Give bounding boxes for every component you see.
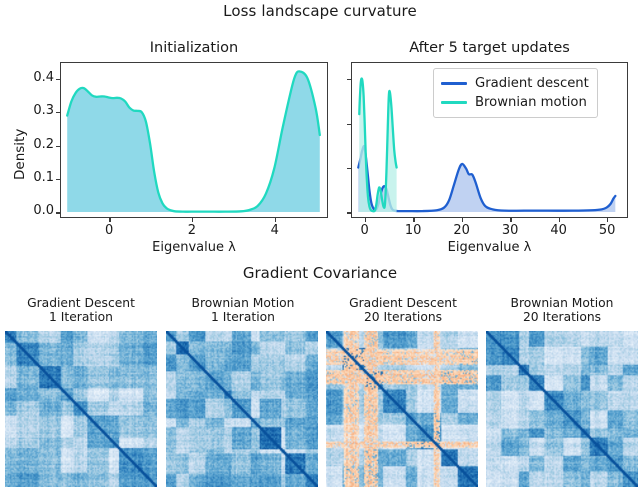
heatmap-title-1-line2: 1 Iteration xyxy=(162,310,324,324)
x-tick-mark-1-0 xyxy=(365,218,366,222)
x-tick-mark-1-2 xyxy=(462,218,463,222)
y-tick-mark-0-0 xyxy=(56,212,60,213)
legend-label-brownian-motion: Brownian motion xyxy=(475,95,587,110)
heatmap-title-3: Brownian Motion 20 Iterations xyxy=(481,296,640,324)
x-tick-mark-1-4 xyxy=(559,218,560,222)
x-tick-mark-1-3 xyxy=(510,218,511,222)
legend-item-brownian-motion[interactable]: Brownian motion xyxy=(441,93,589,112)
x-tick-1-1: 10 xyxy=(391,223,435,238)
y-tick-mark-0-4 xyxy=(56,79,60,80)
chart-title-initialization: Initialization xyxy=(60,40,328,56)
y-tick-0-2: 0.2 xyxy=(8,137,54,152)
area-fill-brownian-motion xyxy=(67,71,320,212)
legend-swatch-brownian-motion xyxy=(441,101,467,104)
heatmap-title-2-line1: Gradient Descent xyxy=(322,296,484,310)
x-tick-0-1: 2 xyxy=(170,223,214,238)
x-tick-mark-0-1 xyxy=(192,218,193,222)
y-tick-0-3: 0.3 xyxy=(8,103,54,118)
section-title-gradient-covariance: Gradient Covariance xyxy=(0,264,640,282)
y-tick-0-0: 0.0 xyxy=(8,203,54,218)
heatmap-title-0: Gradient Descent 1 Iteration xyxy=(0,296,162,324)
heatmap-title-0-line2: 1 Iteration xyxy=(0,310,162,324)
y-tick-0-4: 0.4 xyxy=(8,70,54,85)
legend-swatch-gradient-descent xyxy=(441,82,467,85)
heatmap-gradient-descent-1-iteration xyxy=(5,331,157,487)
chart-panel-initialization xyxy=(60,62,328,218)
y-tick-0-1: 0.1 xyxy=(8,170,54,185)
heatmap-title-3-line2: 20 Iterations xyxy=(481,310,640,324)
x-axis-label-left: Eigenvalue λ xyxy=(60,240,328,255)
x-tick-mark-1-5 xyxy=(607,218,608,222)
y-tick-mark-1-3 xyxy=(347,79,351,80)
heatmap-title-2-line2: 20 Iterations xyxy=(322,310,484,324)
heatmap-title-1-line1: Brownian Motion xyxy=(162,296,324,310)
y-tick-mark-0-2 xyxy=(56,146,60,147)
figure-root: Loss landscape curvature Initialization … xyxy=(0,0,640,488)
y-tick-mark-1-1 xyxy=(347,168,351,169)
heatmap-brownian-motion-1-iteration xyxy=(166,331,318,487)
y-tick-mark-1-2 xyxy=(347,124,351,125)
x-tick-0-0: 0 xyxy=(87,223,131,238)
x-tick-1-4: 40 xyxy=(537,223,581,238)
x-tick-1-5: 50 xyxy=(585,223,629,238)
chart-title-after-updates: After 5 target updates xyxy=(351,40,628,56)
x-tick-mark-0-2 xyxy=(275,218,276,222)
heatmap-title-1: Brownian Motion 1 Iteration xyxy=(162,296,324,324)
area-fill-gradient-descent xyxy=(358,146,615,212)
x-tick-1-0: 0 xyxy=(343,223,387,238)
heatmap-brownian-motion-20-iterations xyxy=(486,331,638,487)
heatmap-title-0-line1: Gradient Descent xyxy=(0,296,162,310)
heatmap-gradient-descent-20-iterations xyxy=(326,331,478,487)
x-tick-mark-1-1 xyxy=(413,218,414,222)
y-tick-mark-0-1 xyxy=(56,179,60,180)
figure-suptitle: Loss landscape curvature xyxy=(0,2,640,20)
legend-label-gradient-descent: Gradient descent xyxy=(475,76,589,91)
x-tick-mark-0-0 xyxy=(109,218,110,222)
x-tick-1-3: 30 xyxy=(488,223,532,238)
x-tick-1-2: 20 xyxy=(440,223,484,238)
x-axis-label-right: Eigenvalue λ xyxy=(351,240,628,255)
y-tick-mark-0-3 xyxy=(56,112,60,113)
y-tick-mark-1-0 xyxy=(347,212,351,213)
chart-legend: Gradient descent Brownian motion xyxy=(433,68,598,118)
curve-gradient-descent xyxy=(358,146,615,211)
x-tick-0-2: 4 xyxy=(253,223,297,238)
heatmap-title-2: Gradient Descent 20 Iterations xyxy=(322,296,484,324)
legend-item-gradient-descent[interactable]: Gradient descent xyxy=(441,74,589,93)
heatmap-title-3-line1: Brownian Motion xyxy=(481,296,640,310)
